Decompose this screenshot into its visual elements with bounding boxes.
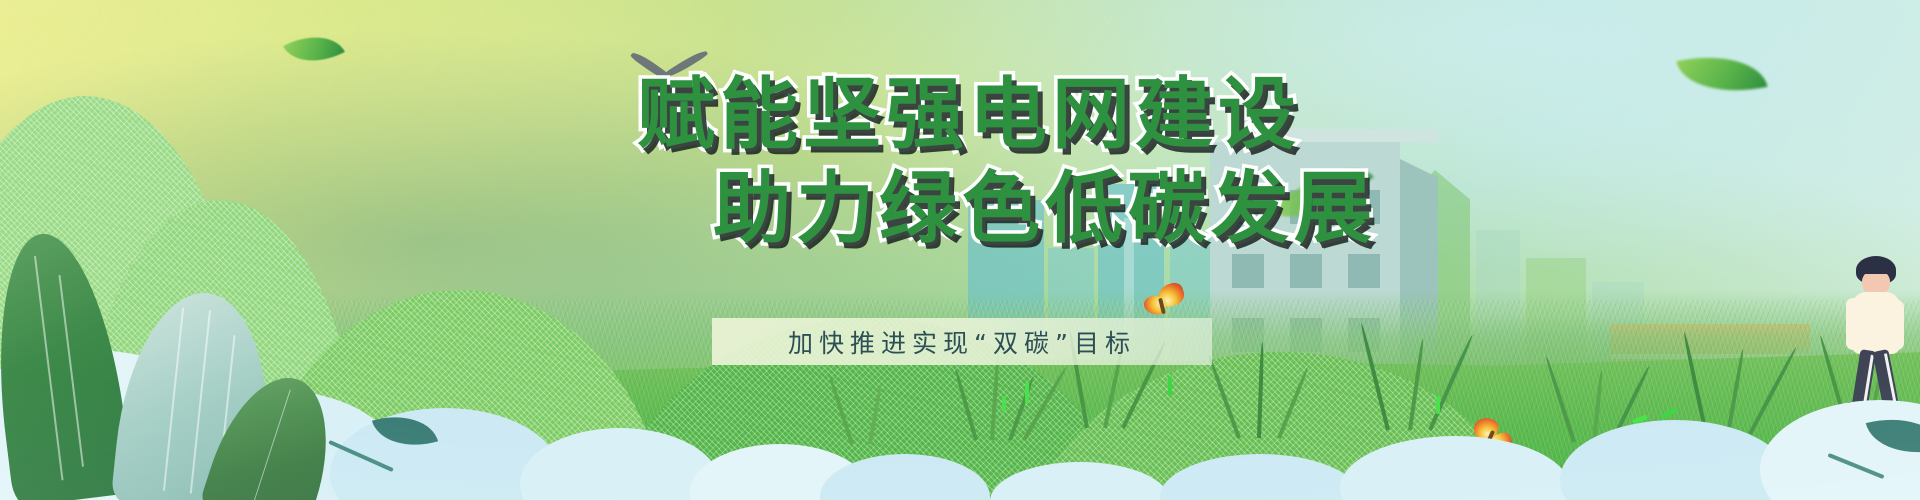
cloud-puff: [1340, 436, 1570, 500]
eco-power-grid-banner: 赋能坚强电网建设 助力绿色低碳发展 加快推进实现“双碳”目标: [0, 0, 1920, 500]
cloud-puff: [1560, 420, 1790, 500]
building-window: [1232, 254, 1264, 288]
building-window: [1232, 190, 1264, 224]
building-window: [1348, 190, 1380, 224]
person-arm: [1890, 300, 1904, 350]
stem-leaf-right: [1826, 404, 1920, 500]
building-window: [1290, 254, 1322, 288]
cloud-puff: [1160, 454, 1360, 500]
subtitle-text: 加快推进实现“双碳”目标: [712, 318, 1212, 365]
swallow-bird: [622, 58, 718, 118]
butterfly-upper: [1140, 282, 1188, 322]
leaf-blade: [372, 405, 438, 458]
person-arm: [1846, 298, 1860, 350]
subtitle-bar: 加快推进实现“双碳”目标: [712, 318, 1212, 365]
person-hair-fringe: [1858, 260, 1894, 274]
leaf-stem: [1827, 453, 1884, 479]
leaf-blade: [1866, 406, 1920, 466]
building-window: [1348, 254, 1380, 288]
cloud-puff: [990, 462, 1170, 500]
leaf-stem: [328, 440, 394, 472]
building-roof: [1210, 128, 1438, 142]
stem-leaf-left: [318, 398, 458, 500]
